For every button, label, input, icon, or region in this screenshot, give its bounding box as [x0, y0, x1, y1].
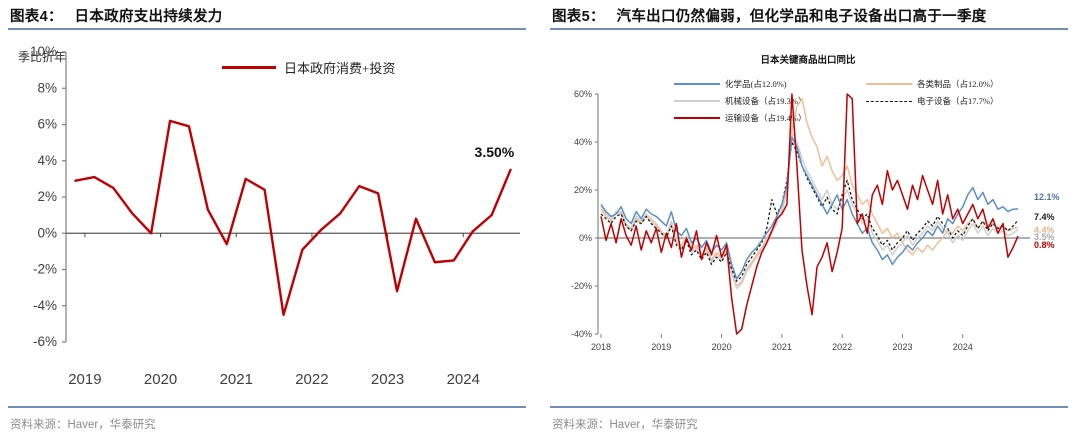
right-x-tick: 2023 — [892, 342, 912, 352]
right-source-tail: ，华泰研究 — [640, 419, 698, 431]
right-chart-plot: 60%40%20%0%-20%-40% 20182019202020212022… — [546, 34, 1070, 402]
left-end-value-label: 3.50% — [475, 144, 515, 160]
left-panel-top-rule — [8, 28, 526, 30]
left-chart-plot: 10%8%6%4%2%0%-2%-4%-6% 20192020202120222… — [4, 34, 528, 402]
left-y-axis: 10%8%6%4%2%0%-2%-4%-6% — [30, 44, 520, 349]
right-line-2 — [601, 132, 1018, 288]
right-x-tick: 2021 — [772, 342, 792, 352]
right-chart-svg: 60%40%20%0%-20%-40% 20182019202020212022… — [546, 34, 1070, 402]
right-source-note: 资料来源：Haver，华泰研究 — [552, 416, 698, 432]
right-panel-title-text: 汽车出口仍然偏弱，但化学品和电子设备出口高于一季度 — [617, 9, 987, 25]
left-y-tick: 0% — [37, 225, 57, 240]
left-y-tick: 4% — [37, 153, 57, 168]
right-y-tick: -20% — [571, 281, 592, 291]
right-panel-title: 图表5： 汽车出口仍然偏弱，但化学品和电子设备出口高于一季度 — [552, 5, 1066, 29]
left-chart-svg: 10%8%6%4%2%0%-2%-4%-6% 20192020202120222… — [4, 34, 528, 402]
left-y-tick: -6% — [33, 334, 57, 349]
right-y-tick: -40% — [571, 329, 592, 339]
left-panel-title: 图表4： 日本政府支出持续发力 — [10, 5, 524, 29]
right-panel-top-rule — [550, 28, 1068, 30]
right-x-tick: 2020 — [712, 342, 732, 352]
left-y-tick: -4% — [33, 298, 57, 313]
left-line-government-spending — [75, 121, 510, 315]
left-panel-title-prefix: 图表4： — [10, 9, 63, 25]
left-y-tick: 2% — [37, 189, 57, 204]
right-end-label-1: 7.4% — [1034, 212, 1055, 222]
left-panel-bottom-rule — [8, 406, 526, 408]
right-y-tick: 0% — [579, 233, 592, 243]
right-x-axis: 2018201920202021202220232024 — [591, 334, 973, 352]
left-source-note: 资料来源：Haver，华泰研究 — [10, 416, 156, 432]
left-x-tick: 2019 — [68, 371, 101, 388]
left-x-tick: 2022 — [295, 371, 328, 388]
left-x-tick: 2024 — [447, 371, 480, 388]
left-series-group — [75, 121, 510, 315]
panel-divider — [538, 0, 540, 440]
left-x-tick: 2023 — [371, 371, 404, 388]
left-source-tail: ，华泰研究 — [98, 419, 156, 431]
right-panel-bottom-rule — [550, 406, 1068, 408]
right-y-tick: 40% — [574, 137, 592, 147]
right-panel-title-prefix: 图表5： — [552, 9, 605, 25]
left-figure-panel: 图表4： 日本政府支出持续发力 季比折年 日本政府消费+投资 10%8%6%4%… — [4, 0, 528, 440]
left-y-tick: 8% — [37, 80, 57, 95]
right-x-tick: 2019 — [651, 342, 671, 352]
left-x-tick: 2020 — [144, 371, 177, 388]
right-line-3 — [601, 142, 1018, 281]
right-x-tick: 2018 — [591, 342, 611, 352]
left-panel-title-text: 日本政府支出持续发力 — [75, 9, 223, 25]
right-x-tick: 2022 — [832, 342, 852, 352]
left-y-tick: -2% — [33, 262, 57, 277]
right-x-tick: 2024 — [953, 342, 973, 352]
left-source-name: Haver — [68, 419, 99, 431]
right-source-prefix: 资料来源： — [552, 419, 610, 431]
right-line-0 — [601, 137, 1018, 279]
left-x-tick: 2021 — [220, 371, 253, 388]
right-line-1 — [601, 99, 1018, 286]
left-source-prefix: 资料来源： — [10, 419, 68, 431]
right-series-group — [601, 94, 1018, 334]
right-source-name: Haver — [610, 419, 641, 431]
left-y-tick: 6% — [37, 117, 57, 132]
right-end-label-0: 12.1% — [1034, 192, 1060, 202]
right-end-label-4: 0.8% — [1034, 240, 1055, 250]
right-figure-panel: 图表5： 汽车出口仍然偏弱，但化学品和电子设备出口高于一季度 日本关键商品出口同… — [546, 0, 1070, 440]
left-y-tick: 10% — [30, 44, 57, 59]
right-y-tick: 60% — [574, 89, 592, 99]
figure-sheet: 图表4： 日本政府支出持续发力 季比折年 日本政府消费+投资 10%8%6%4%… — [0, 0, 1080, 440]
right-y-tick: 20% — [574, 185, 592, 195]
